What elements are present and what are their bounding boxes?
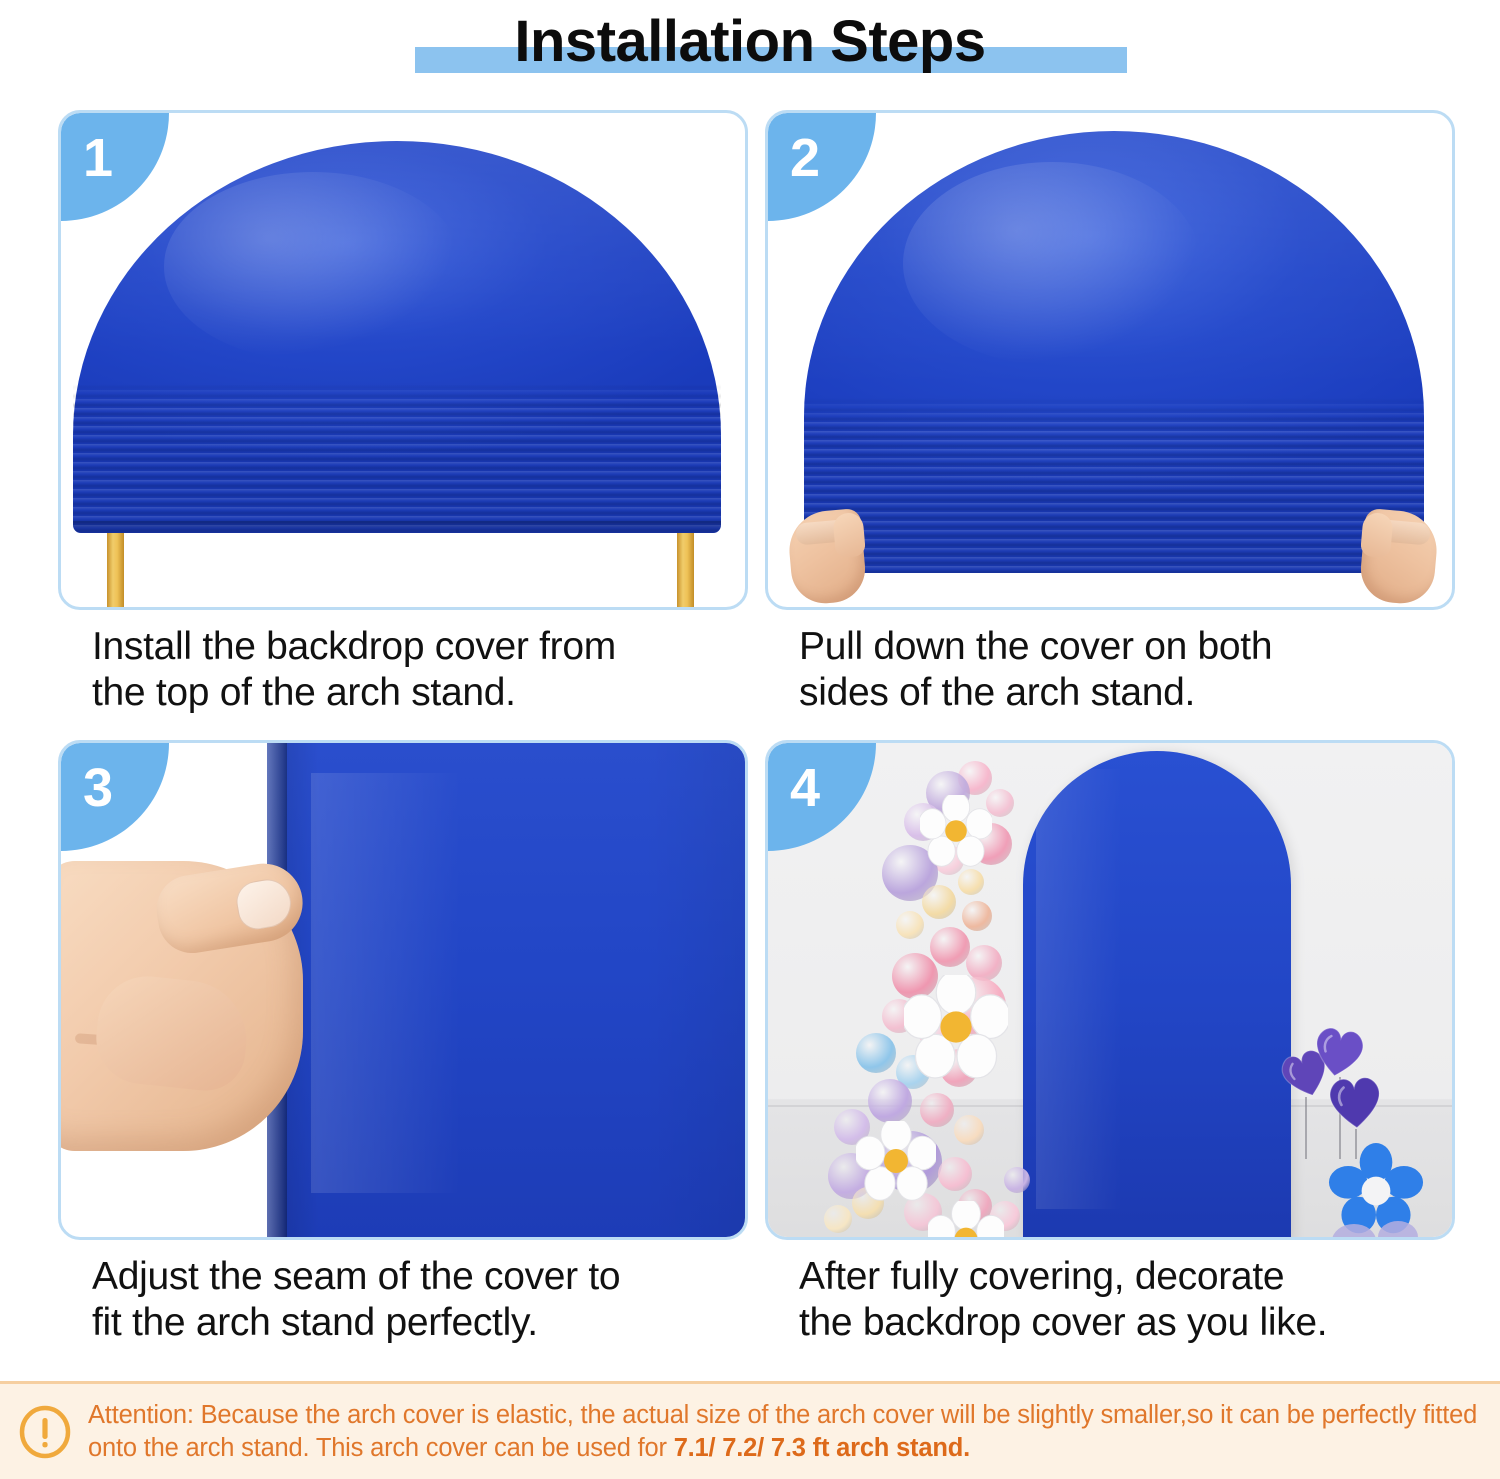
- step-caption-3-line2: fit the arch stand perfectly.: [92, 1300, 748, 1346]
- arch-stand-leg-left: [107, 527, 124, 610]
- balloon-garland: [808, 749, 1068, 1240]
- step-caption-2: Pull down the cover on both sides of the…: [765, 624, 1455, 716]
- balloon-string: [1305, 1097, 1307, 1159]
- step-caption-2-line2: sides of the arch stand.: [799, 670, 1455, 716]
- step-image-panel-2: 2: [765, 110, 1455, 610]
- blue-arch-cover: [73, 141, 721, 533]
- hand-left: [786, 508, 868, 606]
- blue-arch-cover-pulled: [804, 131, 1424, 573]
- purple-flower-shadow-decal: [1324, 1213, 1434, 1240]
- daisy-foil-balloon: [856, 1121, 936, 1201]
- garland-balloon: [954, 1115, 984, 1145]
- daisy-foil-balloon: [928, 1201, 1004, 1240]
- step-caption-1-line2: the top of the arch stand.: [92, 670, 748, 716]
- steps-grid: 1 Install the backdrop cover from the to…: [0, 100, 1500, 1370]
- step-caption-2-line1: Pull down the cover on both: [799, 624, 1455, 670]
- exclamation-circle-icon: [18, 1405, 72, 1459]
- attention-text: Attention: Because the arch cover is ela…: [88, 1399, 1500, 1465]
- garland-balloon: [958, 869, 984, 895]
- hand-right: [1358, 508, 1440, 606]
- step-number-4: 4: [790, 753, 820, 823]
- garland-balloon: [922, 885, 956, 919]
- page-title: Installation Steps: [0, 0, 1500, 84]
- scene-seam-adjust: [61, 743, 745, 1237]
- scene-arch-on-stand: [61, 113, 745, 607]
- cover-hem: [73, 521, 721, 533]
- scene-pulling-cover: [768, 113, 1452, 607]
- step-card-3: 3 Adjust the seam of the cover to fit th…: [58, 740, 748, 1346]
- step-image-panel-1: 1: [58, 110, 748, 610]
- step-card-2: 2 Pull down the cover on both sides of t…: [765, 110, 1455, 716]
- garland-balloon: [962, 901, 992, 931]
- attention-text-bold: 7.1/ 7.2/ 7.3 ft arch stand.: [674, 1434, 970, 1462]
- fabric-sheen: [311, 773, 461, 1193]
- ruched-pleat-band-2: [804, 395, 1424, 573]
- garland-balloon: [856, 1033, 896, 1073]
- step-number-3: 3: [83, 753, 113, 823]
- step-number-1: 1: [83, 123, 113, 193]
- step-caption-1: Install the backdrop cover from the top …: [58, 624, 748, 716]
- garland-balloon: [930, 927, 970, 967]
- heart-foil-balloon: [1320, 1065, 1390, 1135]
- step-caption-3-line1: Adjust the seam of the cover to: [92, 1254, 748, 1300]
- ruched-pleat-band: [73, 381, 721, 533]
- arch-stand-leg-right: [677, 523, 694, 610]
- step-image-panel-3: 3: [58, 740, 748, 1240]
- step-number-2: 2: [790, 123, 820, 193]
- garland-balloon: [1004, 1167, 1030, 1193]
- step-image-panel-4: 4: [765, 740, 1455, 1240]
- garland-balloon: [868, 1079, 912, 1123]
- step-card-4: 4 After fully covering, decorate the bac…: [765, 740, 1455, 1346]
- step-caption-3: Adjust the seam of the cover to fit the …: [58, 1254, 748, 1346]
- daisy-foil-balloon: [920, 795, 992, 867]
- installation-steps-infographic: Installation Steps 1 Install the b: [0, 0, 1500, 1479]
- garland-balloon: [824, 1205, 852, 1233]
- step-caption-4: After fully covering, decorate the backd…: [765, 1254, 1455, 1346]
- hand-right-thumb: [1360, 512, 1394, 558]
- step-caption-4-line1: After fully covering, decorate: [799, 1254, 1455, 1300]
- garland-balloon: [938, 1157, 972, 1191]
- garland-balloon: [896, 911, 924, 939]
- step-caption-1-line1: Install the backdrop cover from: [92, 624, 748, 670]
- daisy-foil-balloon: [904, 975, 1008, 1079]
- page-title-area: Installation Steps: [0, 0, 1500, 96]
- scene-decorated-arch: [768, 743, 1452, 1237]
- step-caption-4-line2: the backdrop cover as you like.: [799, 1300, 1455, 1346]
- attention-banner: Attention: Because the arch cover is ela…: [0, 1381, 1500, 1479]
- step-card-1: 1 Install the backdrop cover from the to…: [58, 110, 748, 716]
- hand-left-thumb: [832, 512, 866, 558]
